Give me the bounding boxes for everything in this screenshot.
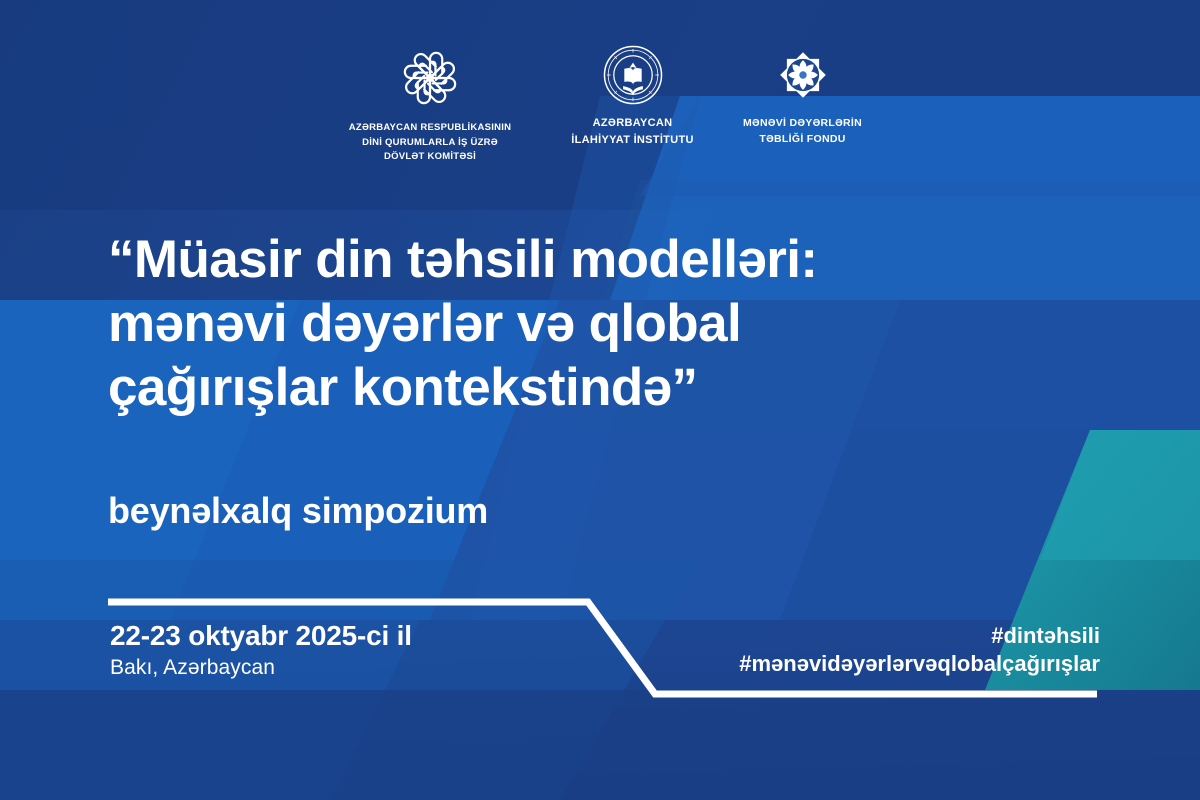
title-line-2: mənəvi dəyərlər və qlobal xyxy=(108,292,968,356)
caption-line: DİNİ QURUMLARLA İŞ ÜZRƏ xyxy=(349,136,511,151)
logo-caption-spiritual-values-foundation: MƏNƏVİ DƏYƏRLƏRİN TƏBLİĞİ FONDU xyxy=(743,115,862,148)
hashtag-block: #dintəhsili #mənəvidəyərlərvəqlobalçağır… xyxy=(739,622,1100,677)
caption-line: TƏBLİĞİ FONDU xyxy=(743,131,862,147)
logo-caption-theology-institute: AZƏRBAYCAN İLAHİYYAT İNSTİTUTU xyxy=(571,115,693,149)
event-details: 22-23 oktyabr 2025-ci il Bakı, Azərbayca… xyxy=(110,620,412,682)
caption-line: İLAHİYYAT İNSTİTUTU xyxy=(571,132,693,149)
hashtag-primary: #dintəhsili xyxy=(739,622,1100,650)
logo-spiritual-values-foundation: MƏNƏVİ DƏYƏRLƏRİN TƏBLİĞİ FONDU xyxy=(735,44,870,148)
spiritual-values-foundation-rosette-icon xyxy=(772,44,834,106)
logo-strip: AZƏRBAYCAN RESPUBLİKASININ DİNİ QURUMLAR… xyxy=(330,44,870,169)
page-title: “Müasir din təhsili modelləri: mənəvi də… xyxy=(108,228,968,420)
hashtag-secondary: #mənəvidəyərlərvəqlobalçağırışlar xyxy=(739,650,1100,678)
symposium-poster: AZƏRBAYCAN RESPUBLİKASININ DİNİ QURUMLAR… xyxy=(0,0,1200,800)
event-date: 22-23 oktyabr 2025-ci il xyxy=(110,620,412,652)
event-location: Bakı, Azərbaycan xyxy=(110,654,412,681)
caption-line: DÖVLƏT KOMİTƏSİ xyxy=(349,150,511,165)
caption-line: MƏNƏVİ DƏYƏRLƏRİN xyxy=(743,115,862,131)
title-line-1: “Müasir din təhsili modelləri: xyxy=(108,228,968,292)
logo-theology-institute: AZƏRBAYCAN İLAHİYYAT İNSTİTUTU xyxy=(568,44,698,149)
theology-institute-seal-icon xyxy=(602,44,664,106)
logo-state-committee: AZƏRBAYCAN RESPUBLİKASININ DİNİ QURUMLAR… xyxy=(330,44,530,165)
event-subtitle: beynəlxalq simpozium xyxy=(108,490,488,532)
azerbaijan-state-committee-rosette-icon xyxy=(396,44,464,112)
caption-line: AZƏRBAYCAN RESPUBLİKASININ xyxy=(349,121,511,136)
logo-caption-state-committee: AZƏRBAYCAN RESPUBLİKASININ DİNİ QURUMLAR… xyxy=(349,121,511,165)
title-line-3: çağırışlar kontekstində” xyxy=(108,356,968,420)
caption-line: AZƏRBAYCAN xyxy=(571,115,693,132)
